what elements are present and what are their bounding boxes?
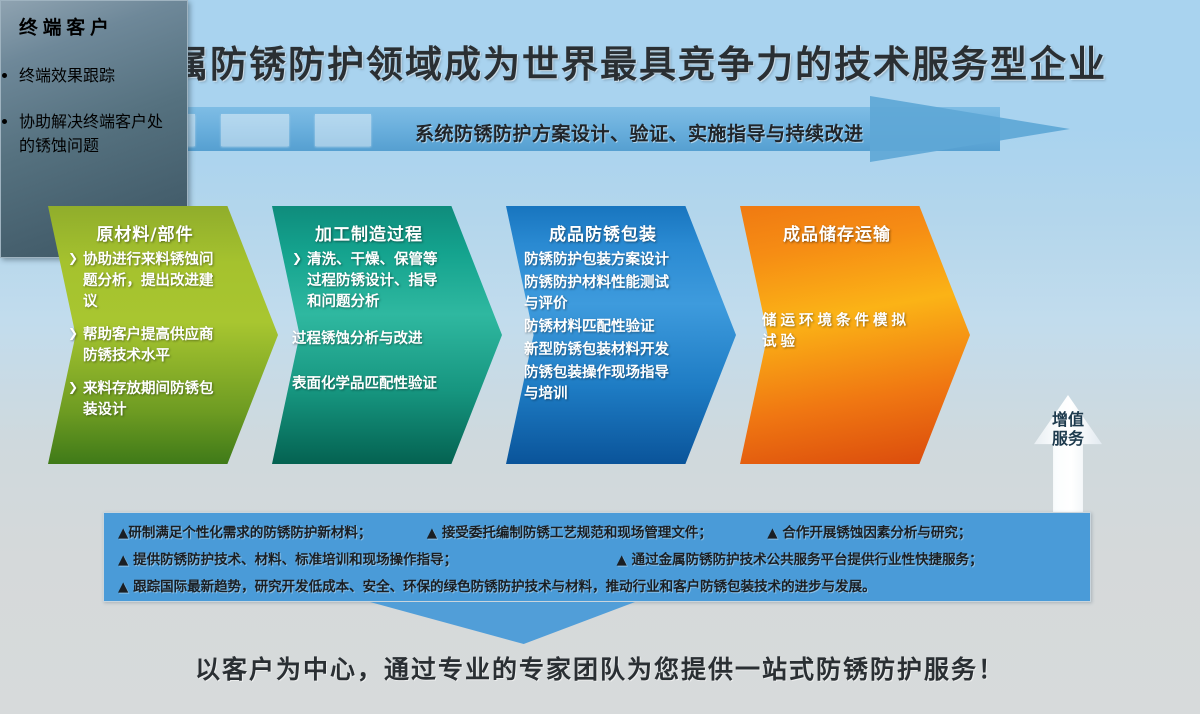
list-item: 防锈包装操作现场指导与培训 (524, 363, 682, 405)
list-item: 帮助客户提高供应商防锈技术水平 (68, 325, 222, 367)
right-arrow-banner-icon (870, 96, 1070, 162)
flow-stage-finished-packaging[interactable]: 成品防锈包装 防锈防护包装方案设计 防锈防护材料性能测试与评价 防锈材料匹配性验… (506, 206, 736, 464)
banner-chip-2 (221, 114, 289, 146)
flow-stage-manufacturing[interactable]: 加工制造过程 清洗、干燥、保管等过程防锈设计、指导和问题分析 过程锈蚀分析与改进… (272, 206, 502, 464)
service-row: ▲研制满足个性化需求的防锈防护新材料； ▲ 接受委托编制防锈工艺规范和现场管理文… (118, 521, 1090, 541)
service-panel[interactable]: ▲研制满足个性化需求的防锈防护新材料； ▲ 接受委托编制防锈工艺规范和现场管理文… (103, 512, 1091, 602)
list-item: 新型防锈包装材料开发 (524, 340, 682, 361)
footer-slogan: 以客户为中心，通过专业的专家团队为您提供一站式防锈防护服务！ (0, 650, 1200, 686)
list-item: 表面化学品匹配性验证 (292, 374, 446, 395)
stage-title-storage-transport: 成品储存运输 (762, 220, 912, 245)
list-item: 终端效果跟踪 (19, 62, 169, 86)
list-item: 来料存放期间防锈包装设计 (68, 379, 222, 421)
service-item: ▲ 通过金属防锈防护技术公共服务平台提供行业性快捷服务； (617, 552, 983, 568)
service-item: ▲ 接受委托编制防锈工艺规范和现场管理文件； (427, 525, 712, 541)
list-item: 防锈防护材料性能测试与评价 (524, 273, 682, 315)
list-item: 防锈防护包装方案设计 (524, 250, 682, 271)
service-item: ▲ 跟踪国际最新趋势，研究开发低成本、安全、环保的绿色防锈防护技术与材料，推动行… (118, 579, 876, 595)
stage-title-finished-packaging: 成品防锈包装 (524, 220, 682, 245)
stage-title-raw-material: 原材料/部件 (68, 220, 222, 245)
flow-stage-raw-material[interactable]: 原材料/部件 协助进行来料锈蚀问题分析，提出改进建议 帮助客户提高供应商防锈技术… (48, 206, 278, 464)
stage-title-manufacturing: 加工制造过程 (292, 220, 446, 245)
stage-items-manufacturing: 清洗、干燥、保管等过程防锈设计、指导和问题分析 过程锈蚀分析与改进 表面化学品匹… (292, 250, 446, 395)
list-item: 清洗、干燥、保管等过程防锈设计、指导和问题分析 (292, 250, 446, 313)
service-row: ▲ 跟踪国际最新趋势，研究开发低成本、安全、环保的绿色防锈防护技术与材料，推动行… (118, 575, 1090, 595)
list-item: 协助进行来料锈蚀问题分析，提出改进建议 (68, 250, 222, 313)
value-added-service-label: 增值服务 (1052, 411, 1084, 449)
service-item: ▲ 提供防锈防护技术、材料、标准培训和现场操作指导； (118, 552, 457, 568)
service-item: ▲研制满足个性化需求的防锈防护新材料； (118, 525, 371, 541)
banner-chip-3 (315, 114, 371, 146)
list-item: 协助解决终端客户处的锈蚀问题 (19, 108, 169, 156)
stage-items-storage-transport: 储运环境条件模拟试验 (762, 311, 912, 353)
stage-title-end-customer: 终端客户 (19, 13, 169, 40)
list-item: 过程锈蚀分析与改进 (292, 329, 446, 350)
arrow-down-icon (370, 602, 635, 644)
list-item: 防锈材料匹配性验证 (524, 317, 682, 338)
service-row: ▲ 提供防锈防护技术、材料、标准培训和现场操作指导； ▲ 通过金属防锈防护技术公… (118, 548, 1090, 568)
stage-items-finished-packaging: 防锈防护包装方案设计 防锈防护材料性能测试与评价 防锈材料匹配性验证 新型防锈包… (524, 250, 682, 405)
stage-items-raw-material: 协助进行来料锈蚀问题分析，提出改进建议 帮助客户提高供应商防锈技术水平 来料存放… (68, 250, 222, 421)
banner-label: 系统防锈防护方案设计、验证、实施指导与持续改进 (415, 119, 864, 146)
list-item: 储运环境条件模拟试验 (762, 311, 912, 353)
stage-items-end-customer: 终端效果跟踪 协助解决终端客户处的锈蚀问题 (19, 62, 169, 156)
flow-stage-storage-transport[interactable]: 成品储存运输 储运环境条件模拟试验 (740, 206, 970, 464)
service-item: ▲ 合作开展锈蚀因素分析与研究； (767, 525, 971, 541)
